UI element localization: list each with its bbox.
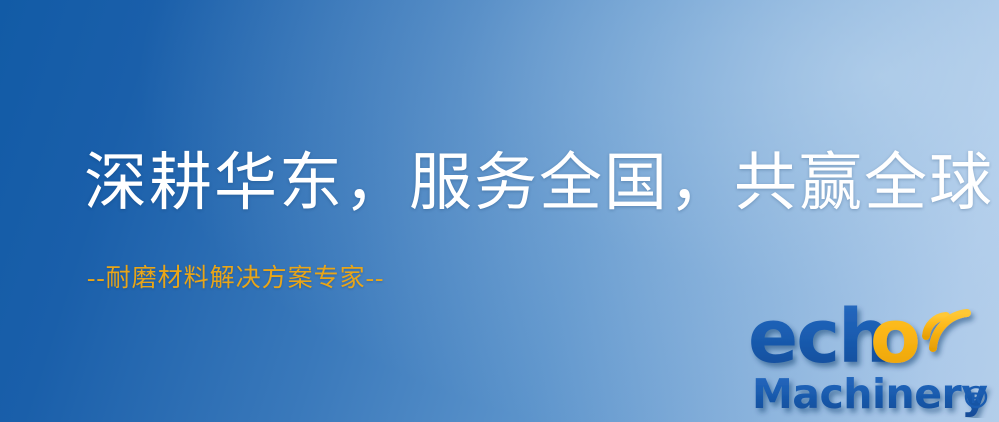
- svg-text:ech: ech: [748, 300, 889, 380]
- signal-arcs-icon: [926, 313, 967, 348]
- svg-text:Machinery: Machinery: [752, 370, 987, 418]
- logo-svg: ech o Machinery R: [748, 300, 996, 418]
- svg-text:R: R: [971, 391, 982, 407]
- logo-subwordmark-machinery: Machinery: [752, 370, 987, 418]
- logo-letter-o-gold: o: [870, 300, 921, 380]
- banner-subtitle: --耐磨材料解决方案专家--: [87, 266, 384, 291]
- banner-headline: 深耕华东，服务全国，共赢全球: [84, 152, 994, 215]
- svg-text:o: o: [870, 300, 921, 380]
- hero-banner: 深耕华东，服务全国，共赢全球 --耐磨材料解决方案专家--: [0, 0, 999, 422]
- echo-machinery-logo[interactable]: ech o Machinery R: [748, 300, 996, 418]
- logo-wordmark-ech: ech: [748, 300, 889, 380]
